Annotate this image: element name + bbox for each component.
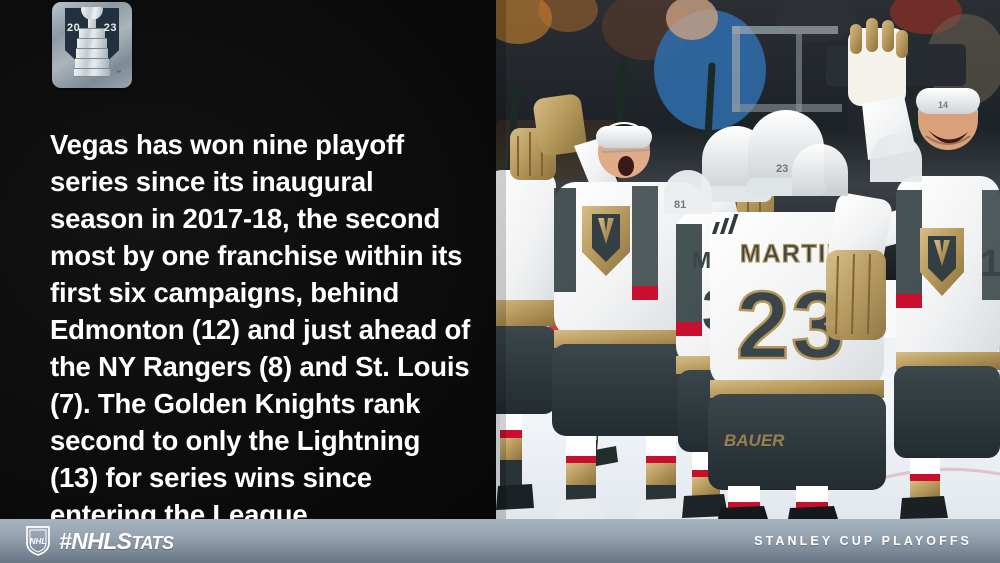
- trademark-mark: ™: [116, 70, 121, 76]
- badge-year-left: 20: [67, 22, 80, 34]
- stat-panel: 20 23 ™ Vegas has won nine playoff serie…: [0, 0, 496, 519]
- nhlstats-s: S: [117, 528, 132, 554]
- badge-year-right: 23: [104, 22, 117, 34]
- svg-text:NHL: NHL: [30, 537, 47, 546]
- svg-text:14: 14: [938, 100, 948, 110]
- footer-bar: NHL #NHLSTATS STANLEY CUP PLAYOFFS: [0, 519, 1000, 563]
- nhlstats-wordmark: #NHLSTATS: [59, 528, 173, 555]
- stanley-cup-playoffs-logo: 20 23 ™: [52, 2, 132, 88]
- footer-event-label: STANLEY CUP PLAYOFFS: [754, 534, 972, 548]
- jersey-number-81: 81: [674, 199, 686, 211]
- jersey-number-3: 14: [980, 243, 1000, 285]
- svg-text:23: 23: [776, 163, 788, 175]
- footer-branding: NHL #NHLSTATS: [24, 525, 173, 557]
- svg-text:BAUER: BAUER: [724, 431, 785, 450]
- nhlstats-hash: #NHL: [59, 528, 117, 554]
- stat-paragraph: Vegas has won nine playoff series since …: [50, 126, 472, 519]
- nhl-shield-icon: NHL: [24, 525, 52, 557]
- nhlstats-tats: TATS: [131, 533, 173, 553]
- celebration-photo: R O G: [496, 0, 1000, 519]
- nhl-stats-graphic: 20 23 ™ Vegas has won nine playoff serie…: [0, 0, 1000, 563]
- cup-band-icon: [74, 68, 110, 77]
